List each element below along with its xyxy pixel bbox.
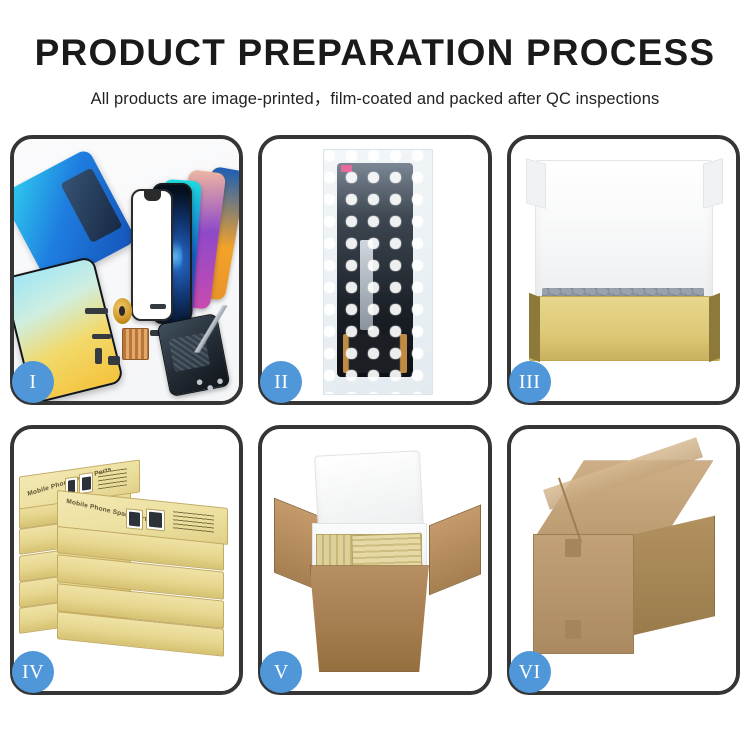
page-title: PRODUCT PREPARATION PROCESS — [0, 34, 750, 73]
carton-body-icon — [310, 565, 429, 672]
carton-tab-icon — [565, 539, 581, 557]
box-artwork-icon — [125, 508, 142, 530]
flex-cable-icon — [92, 334, 111, 339]
step-6-illustration — [511, 429, 736, 691]
process-step-card-4[interactable]: Mobile Phone Spare Parts Mobile Phone Sp… — [10, 425, 243, 695]
box-artwork-icon — [79, 472, 93, 494]
page-subtitle: All products are image-printed，film-coat… — [0, 85, 750, 109]
step-badge-3: III — [509, 361, 551, 403]
kraft-box-tray-icon — [529, 296, 720, 361]
box-artwork-icon — [146, 508, 165, 532]
notch-icon — [144, 191, 161, 201]
step-1-illustration — [14, 139, 239, 401]
bubble-texture — [324, 150, 432, 394]
screws-icon — [193, 375, 226, 393]
step-badge-1: I — [12, 361, 54, 403]
process-step-card-3[interactable]: III — [507, 135, 740, 405]
flex-cable-icon — [150, 304, 166, 309]
process-step-grid: I II III — [10, 135, 740, 695]
chip-grid-icon — [122, 328, 149, 360]
box-spec-lines — [173, 511, 214, 534]
carton-tab-icon — [565, 620, 581, 638]
carton-flap-right-icon — [429, 505, 481, 596]
step-5-illustration — [262, 429, 487, 691]
step-badge-4: IV — [12, 651, 54, 693]
step-4-illustration: Mobile Phone Spare Parts Mobile Phone Sp… — [14, 429, 239, 691]
step-3-illustration — [511, 139, 736, 401]
process-step-card-6[interactable]: VI — [507, 425, 740, 695]
product-preparation-infographic: PRODUCT PREPARATION PROCESS All products… — [0, 0, 750, 750]
carton-side-face-icon — [632, 515, 715, 635]
connector-icon — [95, 348, 102, 364]
process-step-card-2[interactable]: II — [258, 135, 491, 405]
flex-cable-icon — [85, 308, 109, 314]
copper-coil-icon — [113, 298, 132, 324]
box-stack: Mobile Phone Spare Parts Mobile Phone Sp… — [19, 455, 231, 675]
box-spec-lines — [98, 469, 126, 490]
spare-parts-group — [82, 296, 231, 396]
process-step-card-5[interactable]: V — [258, 425, 491, 695]
carton-front-face-icon — [533, 534, 634, 654]
bubble-wrap-bag — [323, 149, 433, 395]
step-badge-6: VI — [509, 651, 551, 693]
step-2-illustration — [262, 139, 487, 401]
process-step-card-1[interactable]: I — [10, 135, 243, 405]
camera-module-icon — [108, 356, 120, 365]
header: PRODUCT PREPARATION PROCESS All products… — [0, 0, 750, 109]
tweezers-icon — [189, 302, 233, 356]
